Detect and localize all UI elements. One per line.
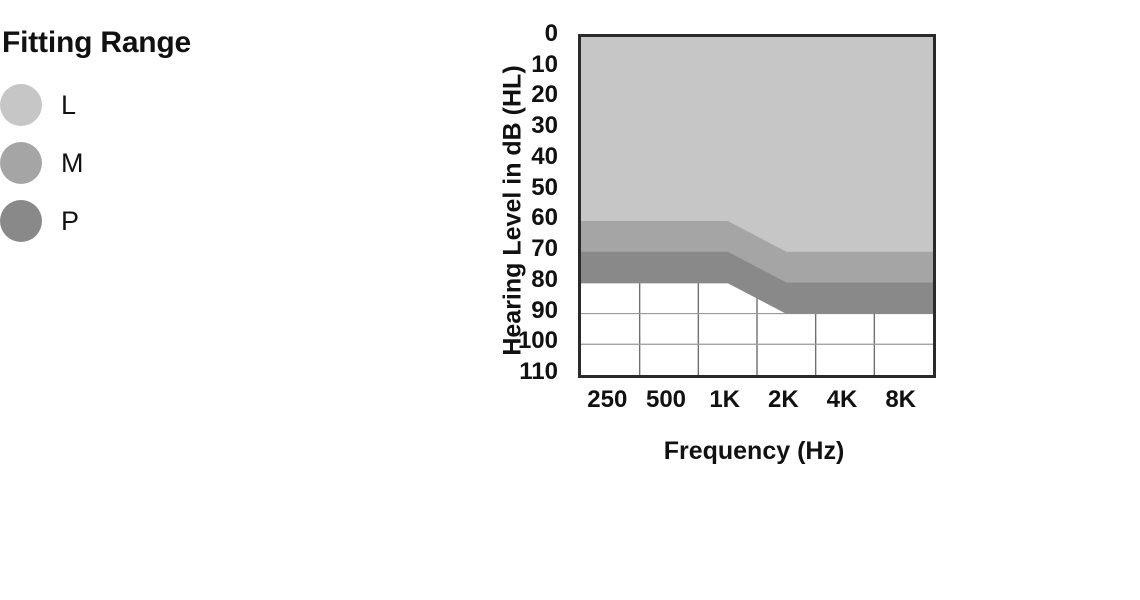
plot-frame	[578, 34, 936, 378]
y-tick-90: 90	[531, 299, 558, 323]
x-tick-250: 250	[587, 388, 627, 412]
fitting-range-bands	[581, 37, 933, 375]
y-tick-70: 70	[531, 237, 558, 261]
plot-area	[581, 37, 933, 375]
x-tick-2K: 2K	[768, 388, 799, 412]
fitting-range-figure: Fitting Range L M P Hearing Level in dB …	[0, 0, 1140, 600]
legend-item-m: M	[0, 134, 300, 192]
y-tick-30: 30	[531, 114, 558, 138]
legend-item-p: P	[0, 192, 300, 250]
y-tick-10: 10	[531, 53, 558, 77]
y-tick-60: 60	[531, 206, 558, 230]
y-tick-0: 0	[545, 22, 558, 46]
y-tick-50: 50	[531, 176, 558, 200]
x-tick-500: 500	[646, 388, 686, 412]
y-tick-110: 110	[519, 360, 558, 384]
y-tick-80: 80	[531, 268, 558, 292]
legend-swatch-m	[0, 142, 42, 184]
legend-panel: Fitting Range L M P	[0, 28, 300, 250]
audiogram-chart: Hearing Level in dB (HL) 010203040506070…	[450, 0, 990, 500]
legend-title: Fitting Range	[2, 28, 300, 58]
y-tick-20: 20	[531, 83, 558, 107]
y-tick-40: 40	[531, 145, 558, 169]
y-tick-100: 100	[518, 329, 558, 353]
band-l	[581, 37, 933, 252]
legend-item-l: L	[0, 76, 300, 134]
legend-label-p: P	[61, 208, 79, 235]
legend-swatch-p	[0, 200, 42, 242]
x-tick-1K: 1K	[709, 388, 740, 412]
x-axis-tick-labels: 2505001K2K4K8K	[578, 388, 930, 420]
x-axis-title: Frequency (Hz)	[578, 437, 930, 466]
legend-swatch-l	[0, 84, 42, 126]
legend-label-l: L	[61, 92, 76, 119]
legend-label-m: M	[61, 150, 84, 177]
x-tick-8K: 8K	[885, 388, 916, 412]
y-axis-tick-labels: 0102030405060708090100110	[490, 0, 558, 400]
x-tick-4K: 4K	[827, 388, 858, 412]
